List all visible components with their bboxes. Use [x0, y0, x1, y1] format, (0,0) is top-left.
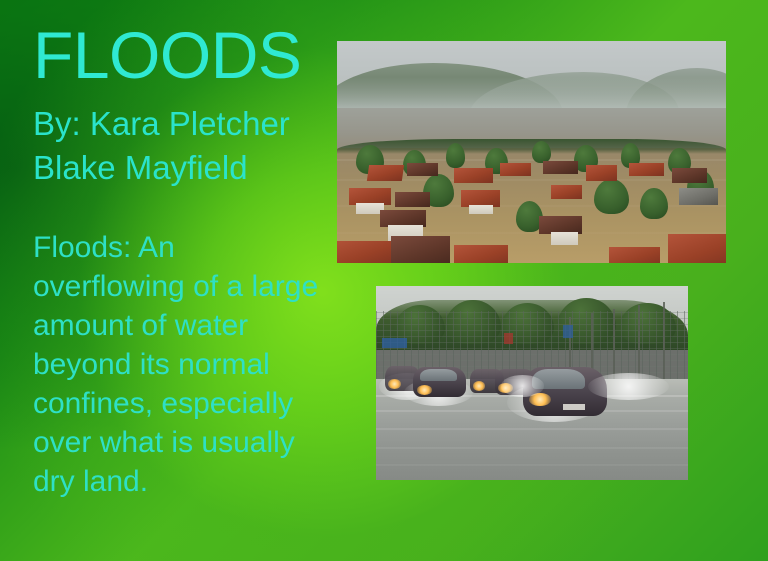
photo-water-ripple: [376, 447, 688, 449]
photo-house-wall: [469, 205, 492, 214]
photo-house-roof: [668, 234, 726, 263]
photo-house-roof: [543, 161, 578, 174]
presentation-slide: FLOODS By: Kara Pletcher Blake Mayfield …: [0, 0, 768, 561]
photo-tree: [532, 141, 551, 163]
photo-house-roof: [395, 192, 430, 208]
photo-house-roof: [454, 245, 508, 263]
photo-house-roof: [391, 236, 449, 263]
photo-house-roof: [407, 163, 438, 176]
photo-vehicle-window: [420, 369, 457, 381]
photo-license-plate: [563, 404, 585, 410]
photo-tree: [446, 143, 465, 167]
photo-fence-post: [613, 309, 615, 383]
photo-house-roof: [609, 247, 660, 263]
photo-house-roof: [454, 168, 493, 184]
flooded-highway-cars-photo: [376, 286, 688, 480]
photo-water-ripple: [376, 464, 688, 466]
photo-house-roof: [500, 163, 531, 176]
flooded-village-aerial-photo: [337, 41, 726, 263]
photo-house-wall: [551, 232, 578, 245]
photo-headlight: [388, 379, 400, 389]
photo-road-sign: [382, 338, 407, 348]
photo-house-roof: [551, 185, 582, 198]
author-line-2: Blake Mayfield: [33, 146, 333, 190]
author-line-1: By: Kara Pletcher: [33, 102, 333, 146]
photo-house-roof: [679, 188, 718, 206]
photo-tree: [640, 188, 667, 219]
title-block: FLOODS By: Kara Pletcher Blake Mayfield: [33, 22, 333, 189]
photo-house-roof: [672, 168, 707, 184]
photo-house-roof: [629, 163, 664, 176]
photo-fence-post: [663, 302, 665, 383]
photo-house-roof: [367, 165, 404, 181]
photo-road-sign: [504, 333, 513, 345]
definition-text: Floods: An overflowing of a large amount…: [33, 228, 321, 501]
photo-headlight: [417, 385, 433, 395]
photo-fence-post: [638, 305, 640, 383]
photo-water-spray: [501, 375, 545, 396]
photo-water-ripple: [376, 428, 688, 430]
photo-road-sign: [563, 325, 572, 339]
photo-headlight: [473, 381, 485, 391]
photo-tree: [594, 179, 629, 215]
page-title: FLOODS: [33, 22, 333, 88]
photo-house-roof: [337, 241, 391, 263]
photo-house-roof: [586, 165, 617, 181]
